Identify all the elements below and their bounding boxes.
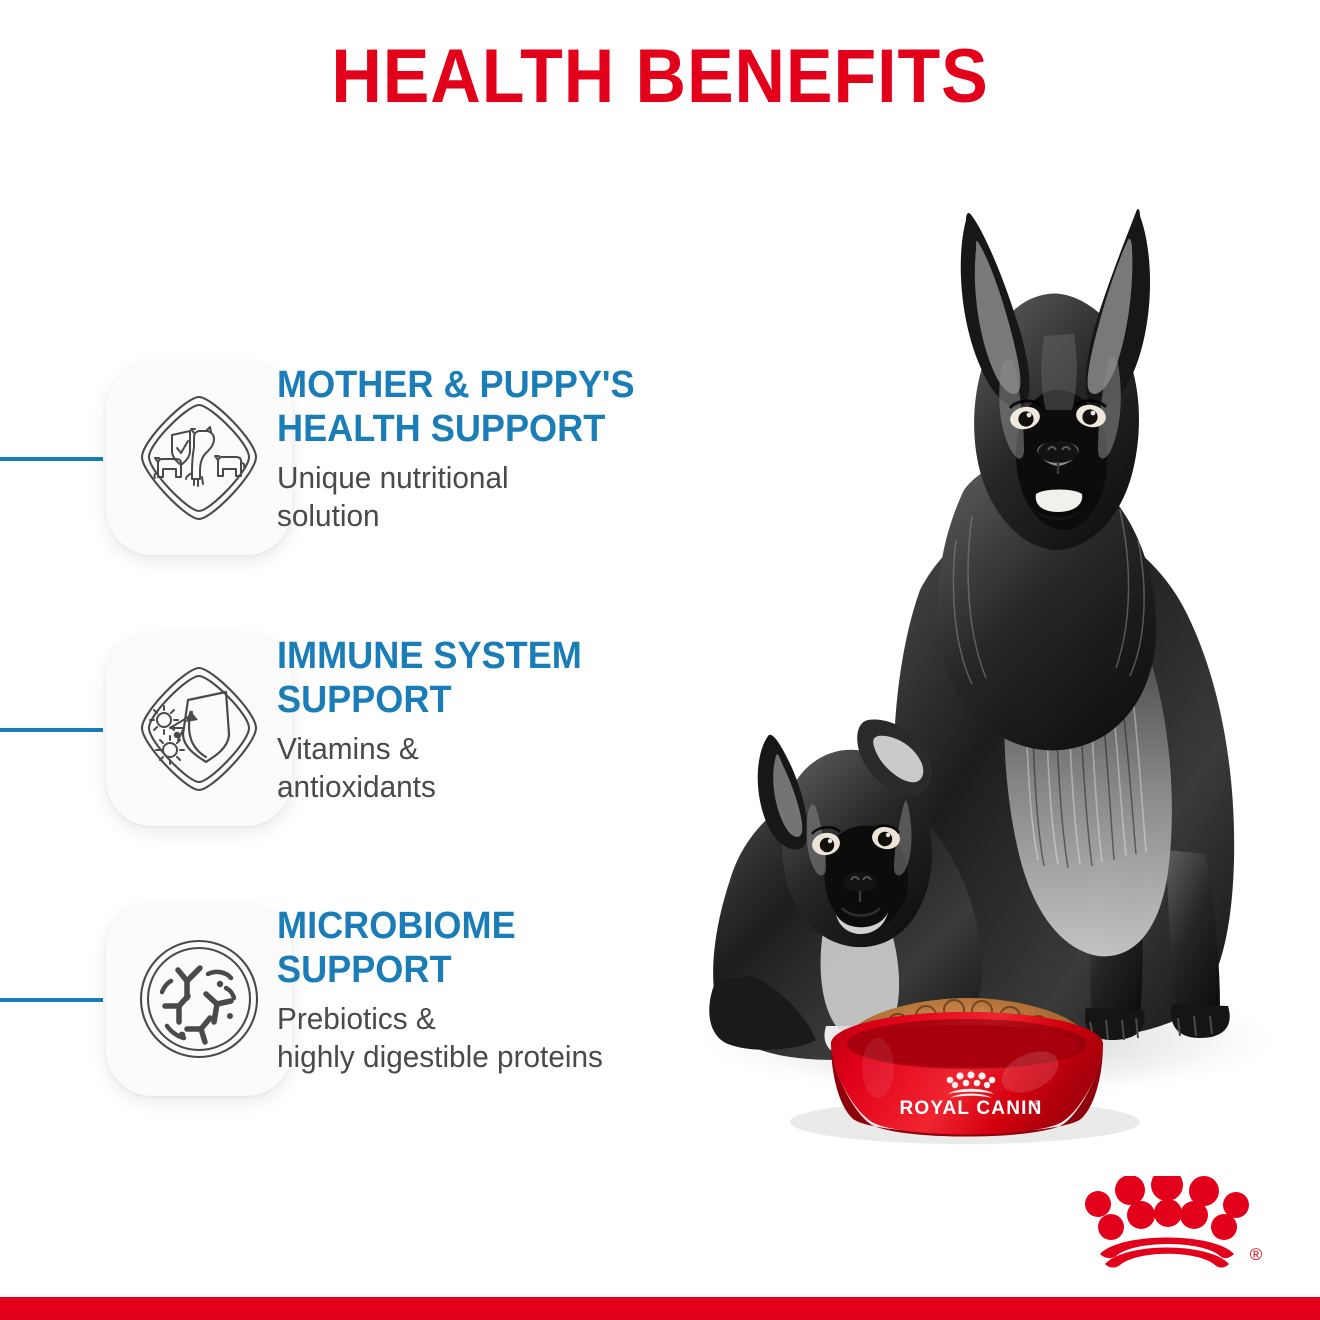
benefit-heading: IMMUNE SYSTEM SUPPORT xyxy=(277,634,676,722)
dog-and-puppy-photo: ROYAL CANIN ® xyxy=(620,160,1320,1170)
benefit-icon-card xyxy=(106,363,292,555)
mother-puppy-shield-icon xyxy=(134,391,264,526)
royal-canin-crown-logo: ® xyxy=(1078,1176,1276,1276)
benefit-icon-card xyxy=(106,904,292,1096)
connector-line xyxy=(0,998,103,1002)
connector-line xyxy=(0,457,103,461)
immune-shield-germs-icon xyxy=(134,662,264,797)
microbiome-bacteria-icon xyxy=(134,932,264,1067)
connector-line xyxy=(0,728,103,732)
page-title: HEALTH BENEFITS xyxy=(53,36,1267,118)
bottom-red-bar xyxy=(0,1297,1320,1320)
bowl-brand-trademark: ® xyxy=(1034,1099,1040,1108)
benefit-icon-card xyxy=(106,634,292,826)
health-benefits-page: HEALTH BENEFITS xyxy=(0,0,1320,1320)
bowl-brand-text: ROYAL CANIN xyxy=(899,1098,1042,1119)
benefit-heading: MICROBIOME SUPPORT xyxy=(277,904,676,992)
brand-trademark: ® xyxy=(1250,1245,1263,1264)
benefit-heading: MOTHER & PUPPY'S HEALTH SUPPORT xyxy=(277,363,676,451)
